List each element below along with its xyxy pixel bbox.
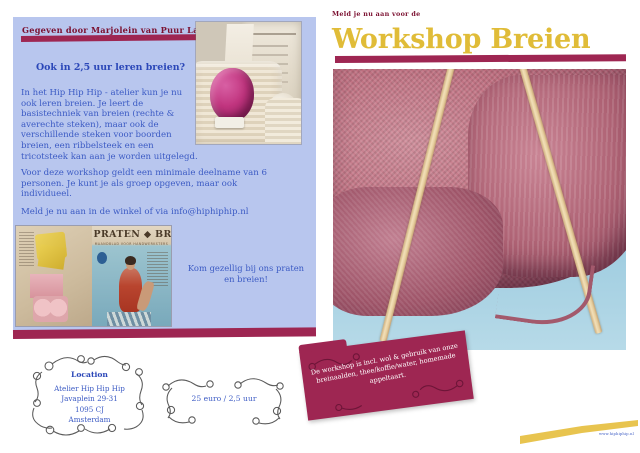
pink-yarn-ball: [210, 68, 254, 122]
location-line-4: Amsterdam: [22, 415, 157, 425]
magazine-blue-dot: [97, 252, 107, 264]
location-box: Location Atelier Hip Hip Hip Javaplein 2…: [22, 348, 157, 446]
left-paragraph-3: Meld je nu aan in de winkel of via info@…: [21, 207, 286, 218]
location-address: Atelier Hip Hip Hip Javaplein 29-31 1095…: [22, 384, 157, 426]
magazine-cover-model: [113, 258, 149, 326]
location-line-3: 1095 CJ: [22, 405, 157, 415]
vintage-magazine-photo: PRATEN ◆ BREIEN MAANDBLAD VOOR HANDWERKS…: [16, 226, 171, 326]
page-title: Workshop Breien: [332, 24, 590, 55]
knitting-invite-caption: Kom gezellig bij ons praten en breien!: [186, 263, 306, 285]
magazine-lingerie-photo: [33, 296, 68, 322]
magazine-right-page: PRATEN ◆ BREIEN MAANDBLAD VOOR HANDWERKS…: [92, 226, 171, 326]
headline-kicker: Meld je nu aan voor de: [332, 10, 421, 18]
website-url: www.hiphiphip.nl: [599, 432, 634, 436]
footer-ribbon: www.hiphiphip.nl: [520, 420, 638, 446]
magazine-pink-photo: [30, 274, 63, 298]
left-paragraph-1: In het Hip Hip Hip - atelier kun je nu o…: [21, 88, 199, 162]
knitting-hero-photo: [333, 69, 626, 350]
magazine-masthead: PRATEN ◆ BREIEN: [94, 229, 170, 240]
location-line-1: Atelier Hip Hip Hip: [22, 384, 157, 394]
flyer-page: Gegeven door Marjolein van Puur Lana Ook…: [0, 0, 640, 453]
magazine-masthead-subtitle: MAANDBLAD VOOR HANDWERKSTERS: [94, 242, 170, 246]
left-panel-bottom-rule: [13, 327, 316, 339]
magazine-left-page: [16, 226, 92, 326]
magazine-yellow-garment-2: [37, 244, 66, 269]
model-towel: [107, 312, 151, 326]
left-paragraph-2: Voor deze workshop geldt een minimale de…: [21, 168, 271, 200]
price-box: 25 euro / 2,5 uur: [160, 370, 288, 432]
inclusions-tag: De workshop is incl. wol & gebruik van o…: [299, 330, 474, 420]
knit-basket-shape-2: [265, 98, 301, 144]
location-line-2: Javaplein 29-31: [22, 394, 157, 404]
location-title: Location: [22, 370, 157, 379]
title-underline-rule: [335, 54, 626, 63]
inclusions-tag-text: De workshop is incl. wol & gebruik van o…: [309, 341, 464, 396]
yarn-basket-photo: [196, 22, 301, 144]
price-text: 25 euro / 2,5 uur: [160, 394, 288, 403]
